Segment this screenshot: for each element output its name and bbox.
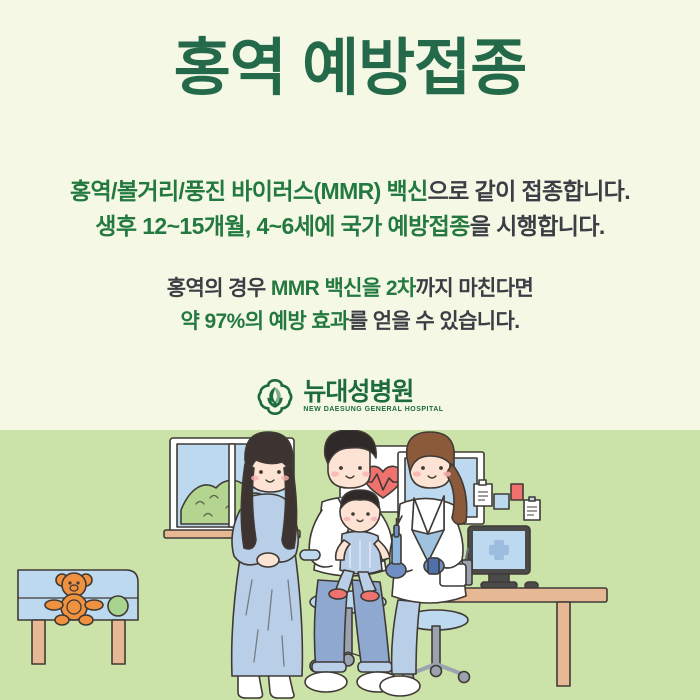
clinic-illustration-svg: .ol{stroke:#3f3a36;stroke-width:1.6;stro… xyxy=(0,430,700,700)
paragraph-2-line-2: 약 97%의 예방 효과를 얻을 수 있습니다. xyxy=(0,305,700,338)
paragraph-1-line-2: 생후 12~15개월, 4~6세에 국가 예방접종을 시행합니다. xyxy=(0,209,700,244)
note-blue xyxy=(494,494,509,509)
text-mmr-vaccine-tail: 으로 같이 접종합니다. xyxy=(428,178,630,204)
text-efficacy-tail: 를 얻을 수 있습니다. xyxy=(349,310,520,333)
mother-hands xyxy=(257,553,279,567)
infographic-card: 홍역 예방접종 홍역/볼거리/풍진 바이러스(MMR) 백신으로 같이 접종합니… xyxy=(0,0,700,700)
highlight-age-schedule: 생후 12~15개월, 4~6세에 국가 예방접종 xyxy=(95,213,469,239)
hospital-logo: 뉴대성병원 NEW DAESUNG GENERAL HOSPITAL xyxy=(0,378,700,416)
daesung-emblem-icon xyxy=(256,378,294,416)
paragraph-2-line-1: 홍역의 경우 MMR 백신을 2차까지 마친다면 xyxy=(0,272,700,305)
clinic-illustration: .ol{stroke:#3f3a36;stroke-width:1.6;stro… xyxy=(0,430,700,700)
doctor-shoe xyxy=(380,676,420,696)
text-age-schedule-tail: 을 시행합니다. xyxy=(470,213,605,239)
baby-shoe-left xyxy=(329,589,347,599)
note-red xyxy=(511,484,523,500)
desk-leg xyxy=(557,602,570,686)
note-clipboard-1 xyxy=(474,480,492,506)
paragraph-efficacy: 홍역의 경우 MMR 백신을 2차까지 마친다면 약 97%의 예방 효과를 얻… xyxy=(0,272,700,338)
vaccine-vial xyxy=(428,558,439,574)
paragraph-vaccine-schedule: 홍역/볼거리/풍진 바이러스(MMR) 백신으로 같이 접종합니다. 생후 12… xyxy=(0,174,700,244)
highlight-mmr-vaccine: 홍역/볼거리/풍진 바이러스(MMR) 백신 xyxy=(70,178,428,204)
logo-name-korean: 뉴대성병원 xyxy=(303,379,413,405)
highlight-second-dose: MMR 백신을 2차 xyxy=(271,277,416,300)
note-clipboard-2 xyxy=(524,497,540,520)
baby-shoe-right xyxy=(361,591,379,601)
highlight-97-percent: 약 97%의 예방 효과 xyxy=(181,310,349,333)
text-measles-case-head: 홍역의 경우 xyxy=(167,277,271,300)
baby-onesie xyxy=(340,531,382,574)
logo-text-block: 뉴대성병원 NEW DAESUNG GENERAL HOSPITAL xyxy=(303,379,443,415)
doctor-pants xyxy=(392,600,420,674)
text-measles-case-tail: 까지 마친다면 xyxy=(416,277,534,300)
logo-name-english: NEW DAESUNG GENERAL HOSPITAL xyxy=(303,405,443,415)
page-title: 홍역 예방접종 xyxy=(0,34,700,104)
paragraph-1-line-1: 홍역/볼거리/풍진 바이러스(MMR) 백신으로 같이 접종합니다. xyxy=(0,174,700,209)
father-shoe-left xyxy=(305,672,347,692)
green-ball xyxy=(108,596,128,616)
